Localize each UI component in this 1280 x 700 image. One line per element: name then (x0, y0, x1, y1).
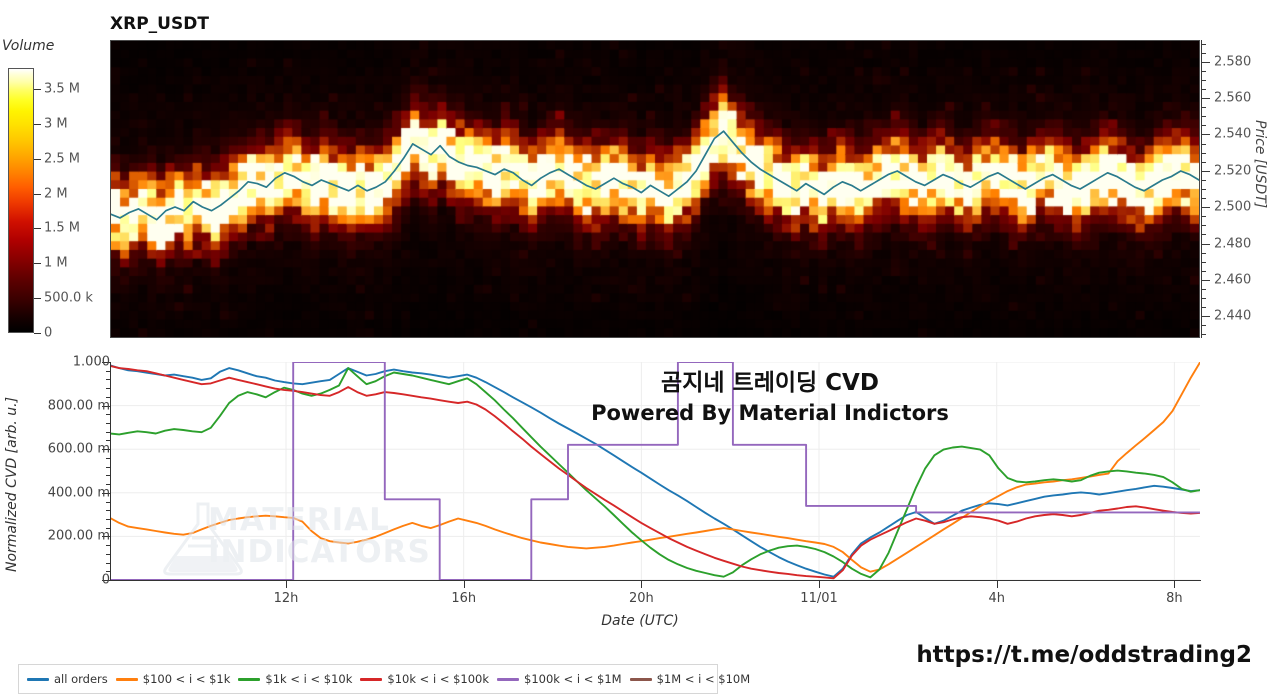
cvd-y-minor-tick (106, 502, 111, 503)
colorbar-tick-label: 0 (44, 326, 52, 341)
colorbar-tick-label: 1.5 M (44, 221, 80, 236)
price-minor-tick (1201, 198, 1206, 199)
cvd-y-minor-tick (106, 554, 111, 555)
colorbar-tick (34, 194, 41, 195)
telegram-link[interactable]: https://t.me/oddstrading2 (916, 642, 1252, 668)
cvd-y-minor-tick (106, 371, 111, 372)
colorbar-tick (34, 124, 41, 125)
legend-color-swatch (360, 678, 382, 681)
price-minor-tick (1201, 125, 1206, 126)
cvd-x-tick (997, 580, 998, 588)
legend-label: $100k < i < $1M (524, 672, 622, 686)
cvd-x-tick (819, 580, 820, 588)
colorbar-tick (34, 159, 41, 160)
price-minor-tick (1201, 334, 1206, 335)
volume-colorbar: Volume 3.5 M3 M2.5 M2 M1.5 M1 M500.0 k0 (0, 58, 100, 343)
legend-item[interactable]: all orders (27, 672, 108, 686)
price-minor-tick (1201, 144, 1206, 145)
legend-color-swatch (116, 678, 138, 681)
price-tick-label: 2.480 (1214, 236, 1251, 251)
price-minor-tick (1201, 271, 1206, 272)
cvd-x-tick-label: 8h (1166, 591, 1183, 606)
price-minor-tick (1201, 234, 1206, 235)
legend-item[interactable]: $100k < i < $1M (497, 672, 622, 686)
volume-heatmap-panel (110, 40, 1200, 338)
branding-line2: Powered By Material Indictors (560, 399, 980, 427)
price-major-tick (1201, 244, 1210, 245)
price-tick-label: 2.580 (1214, 54, 1251, 69)
colorbar-gradient (8, 68, 34, 333)
price-minor-tick (1201, 325, 1206, 326)
colorbar-tick (34, 228, 41, 229)
legend-label: $1M < i < $10M (657, 672, 751, 686)
legend-color-swatch (630, 678, 652, 681)
cvd-x-tick (1174, 580, 1175, 588)
page-title: XRP_USDT (110, 14, 209, 34)
colorbar-tick (34, 298, 41, 299)
price-minor-tick (1201, 44, 1206, 45)
legend-item[interactable]: $1k < i < $10k (238, 672, 352, 686)
price-minor-tick (1201, 307, 1206, 308)
colorbar-tick-label: 3 M (44, 116, 68, 131)
legend-label: $10k < i < $100k (387, 672, 489, 686)
cvd-y-tick-label: 800.00 m (48, 398, 110, 413)
price-minor-tick (1201, 216, 1206, 217)
cvd-x-tick (641, 580, 642, 588)
cvd-y-axis-label: Normalized CVD [arb. u.] (4, 372, 20, 572)
price-minor-tick (1201, 298, 1206, 299)
cvd-legend: all orders$100 < i < $1k$1k < i < $10k$1… (18, 664, 718, 694)
price-axis-title: Price [USDT] (1252, 120, 1268, 208)
price-major-tick (1201, 134, 1210, 135)
cvd-y-tick-label: 600.00 m (48, 442, 110, 457)
price-minor-tick (1201, 225, 1206, 226)
price-minor-tick (1201, 71, 1206, 72)
price-minor-tick (1201, 53, 1206, 54)
cvd-y-minor-tick (106, 563, 111, 564)
price-minor-tick (1201, 262, 1206, 263)
cvd-x-axis-spine (110, 580, 1201, 581)
legend-color-swatch (27, 678, 49, 681)
cvd-x-tick-label: 12h (274, 591, 299, 606)
colorbar-tick-label: 500.0 k (44, 291, 93, 306)
cvd-x-tick (286, 580, 287, 588)
colorbar-tick (34, 89, 41, 90)
cvd-y-tick-label: 400.00 m (48, 485, 110, 500)
price-minor-tick (1201, 253, 1206, 254)
colorbar-tick-label: 2.5 M (44, 151, 80, 166)
legend-color-swatch (497, 678, 519, 681)
branding-line1: 곰지네 트레이딩 CVD (560, 368, 980, 399)
cvd-y-minor-tick (106, 423, 111, 424)
legend-label: all orders (54, 672, 108, 686)
price-tick-label: 2.560 (1214, 91, 1251, 106)
price-minor-tick (1201, 189, 1206, 190)
legend-item[interactable]: $100 < i < $1k (116, 672, 231, 686)
price-minor-tick (1201, 162, 1206, 163)
legend-item[interactable]: $1M < i < $10M (630, 672, 751, 686)
legend-label: $100 < i < $1k (143, 672, 231, 686)
price-major-tick (1201, 171, 1210, 172)
price-axis: 2.5802.5602.5402.5202.5002.4802.4602.440 (1201, 40, 1280, 338)
cvd-y-minor-tick (106, 510, 111, 511)
price-tick-label: 2.520 (1214, 163, 1251, 178)
cvd-x-tick-label: 4h (988, 591, 1005, 606)
legend-color-swatch (238, 678, 260, 681)
cvd-x-tick-label: 20h (629, 591, 654, 606)
price-minor-tick (1201, 107, 1206, 108)
cvd-y-minor-tick (106, 432, 111, 433)
price-major-tick (1201, 207, 1210, 208)
cvd-y-minor-tick (106, 388, 111, 389)
cvd-y-minor-tick (106, 458, 111, 459)
price-minor-tick (1201, 180, 1206, 181)
price-minor-tick (1201, 80, 1206, 81)
price-line (111, 41, 1199, 337)
price-tick-label: 2.540 (1214, 127, 1251, 142)
price-major-tick (1201, 280, 1210, 281)
colorbar-title: Volume (2, 38, 54, 54)
price-major-tick (1201, 98, 1210, 99)
price-minor-tick (1201, 116, 1206, 117)
cvd-y-minor-tick (106, 545, 111, 546)
cvd-y-minor-tick (106, 379, 111, 380)
legend-item[interactable]: $10k < i < $100k (360, 672, 489, 686)
cvd-y-minor-tick (106, 467, 111, 468)
price-tick-label: 2.500 (1214, 200, 1251, 215)
colorbar-tick-label: 2 M (44, 186, 68, 201)
cvd-y-axis: 1.000800.00 m600.00 m400.00 m200.00 m0 (30, 362, 112, 580)
cvd-y-tick-label: 1.000 (73, 355, 110, 370)
cvd-y-minor-tick (106, 519, 111, 520)
cvd-y-minor-tick (106, 475, 111, 476)
colorbar-tick (34, 333, 41, 334)
colorbar-tick-label: 3.5 M (44, 81, 80, 96)
price-minor-tick (1201, 153, 1206, 154)
cvd-y-tick-label: 0 (102, 573, 110, 588)
price-major-tick (1201, 316, 1210, 317)
price-minor-tick (1201, 89, 1206, 90)
cvd-x-axis-label: Date (UTC) (0, 613, 1280, 629)
cvd-y-minor-tick (106, 414, 111, 415)
cvd-y-tick-label: 200.00 m (48, 529, 110, 544)
cvd-x-tick-label: 11/01 (800, 591, 837, 606)
colorbar-tick-label: 1 M (44, 256, 68, 271)
price-minor-tick (1201, 289, 1206, 290)
price-tick-label: 2.460 (1214, 272, 1251, 287)
price-major-tick (1201, 62, 1210, 63)
price-tick-label: 2.440 (1214, 309, 1251, 324)
cvd-x-tick-label: 16h (451, 591, 476, 606)
cvd-y-axis-spine (110, 362, 111, 581)
legend-label: $1k < i < $10k (265, 672, 352, 686)
colorbar-tick (34, 263, 41, 264)
branding-overlay: 곰지네 트레이딩 CVD Powered By Material Indicto… (560, 368, 980, 427)
cvd-x-tick (464, 580, 465, 588)
